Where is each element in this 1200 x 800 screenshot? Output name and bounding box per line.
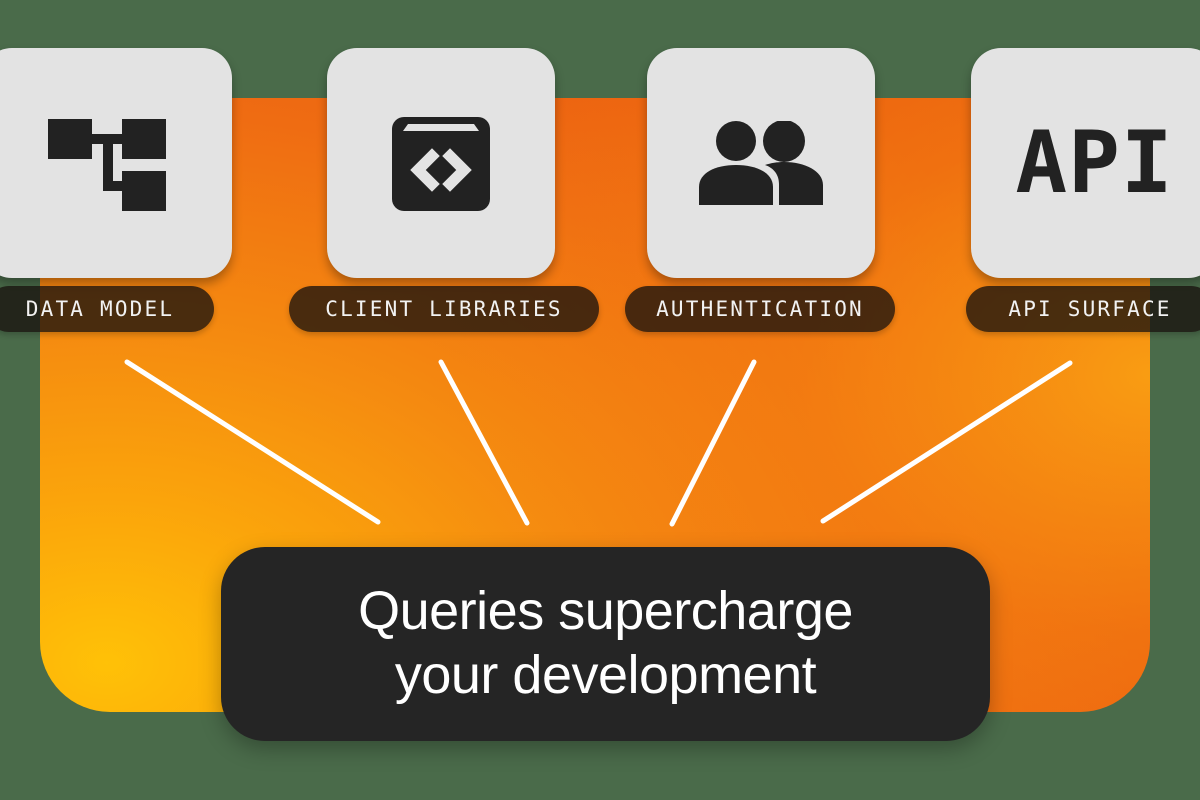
feature-label-text-client-libraries: CLIENT LIBRARIES: [325, 299, 563, 320]
feature-label-pill-client-libraries: CLIENT LIBRARIES: [289, 286, 599, 332]
feature-label-pill-authentication: AUTHENTICATION: [625, 286, 895, 332]
feature-card-authentication[interactable]: [647, 48, 875, 278]
headline-line-1: Queries supercharge: [358, 580, 853, 644]
schema-icon: [48, 115, 166, 211]
feature-label-text-api-surface: API SURFACE: [1008, 299, 1171, 320]
feature-card-client-libraries[interactable]: [327, 48, 555, 278]
api-wordmark-icon: API: [1015, 120, 1173, 206]
users-icon: [699, 121, 823, 205]
headline-text: Queries supercharge your development: [318, 580, 893, 707]
infographic-stage: DATA MODEL CLIENT LIBRARIES AUTHENTICATI…: [0, 0, 1200, 800]
feature-card-api-surface[interactable]: API: [971, 48, 1200, 278]
feature-label-text-authentication: AUTHENTICATION: [656, 299, 864, 320]
feature-label-pill-data-model: DATA MODEL: [0, 286, 214, 332]
feature-label-pill-api-surface: API SURFACE: [966, 286, 1200, 332]
feature-card-data-model[interactable]: [0, 48, 232, 278]
headline-line-2: your development: [358, 644, 853, 708]
headline-card: Queries supercharge your development: [221, 547, 990, 741]
feature-label-text-data-model: DATA MODEL: [26, 299, 174, 320]
code-package-icon: [392, 115, 490, 211]
